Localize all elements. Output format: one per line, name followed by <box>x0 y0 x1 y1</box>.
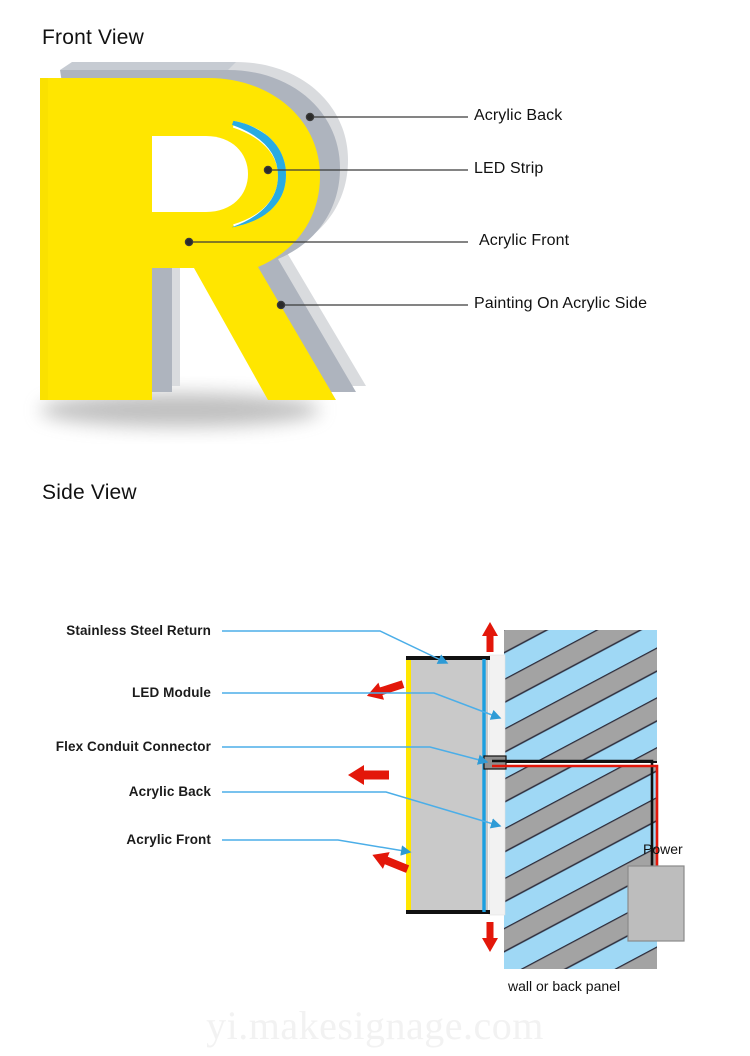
power-label: Power <box>643 841 683 857</box>
callout-label-acrylic-front-side: Acrylic Front <box>0 832 211 847</box>
callout-label-stainless-steel-return: Stainless Steel Return <box>0 623 211 638</box>
callout-label-acrylic-back: Acrylic Back <box>474 107 562 125</box>
power-supply-box <box>628 866 684 941</box>
callout-label-flex-conduit-connector: Flex Conduit Connector <box>0 739 211 754</box>
callout-label-led-strip: LED Strip <box>474 160 543 178</box>
side-view-graphic <box>0 600 750 1020</box>
letter-body-return <box>410 659 488 912</box>
callout-label-acrylic-back-side: Acrylic Back <box>0 784 211 799</box>
callout-label-painting-on-acrylic-side: Painting On Acrylic Side <box>474 295 647 313</box>
mounting-gap <box>489 655 505 915</box>
wall-or-back-panel-label: wall or back panel <box>508 978 620 994</box>
diagram-canvas: Front View <box>0 0 750 1056</box>
stainless-steel-return-bottom <box>406 910 490 914</box>
letter-top-bevel <box>60 62 236 70</box>
stainless-steel-return-top <box>406 656 490 660</box>
acrylic-front-strip <box>406 659 411 912</box>
side-view-heading: Side View <box>42 481 137 505</box>
callout-label-acrylic-front: Acrylic Front <box>479 232 569 250</box>
light-down-arrow <box>482 922 498 952</box>
callout-label-led-module: LED Module <box>0 685 211 700</box>
light-left-arrow-2 <box>348 765 389 785</box>
light-up-arrow <box>482 622 498 652</box>
letter-left-edge <box>40 78 48 400</box>
light-left-arrow-1 <box>364 676 406 705</box>
site-watermark: yi.makesignage.com <box>0 1002 750 1049</box>
front-view-graphic <box>0 0 750 455</box>
